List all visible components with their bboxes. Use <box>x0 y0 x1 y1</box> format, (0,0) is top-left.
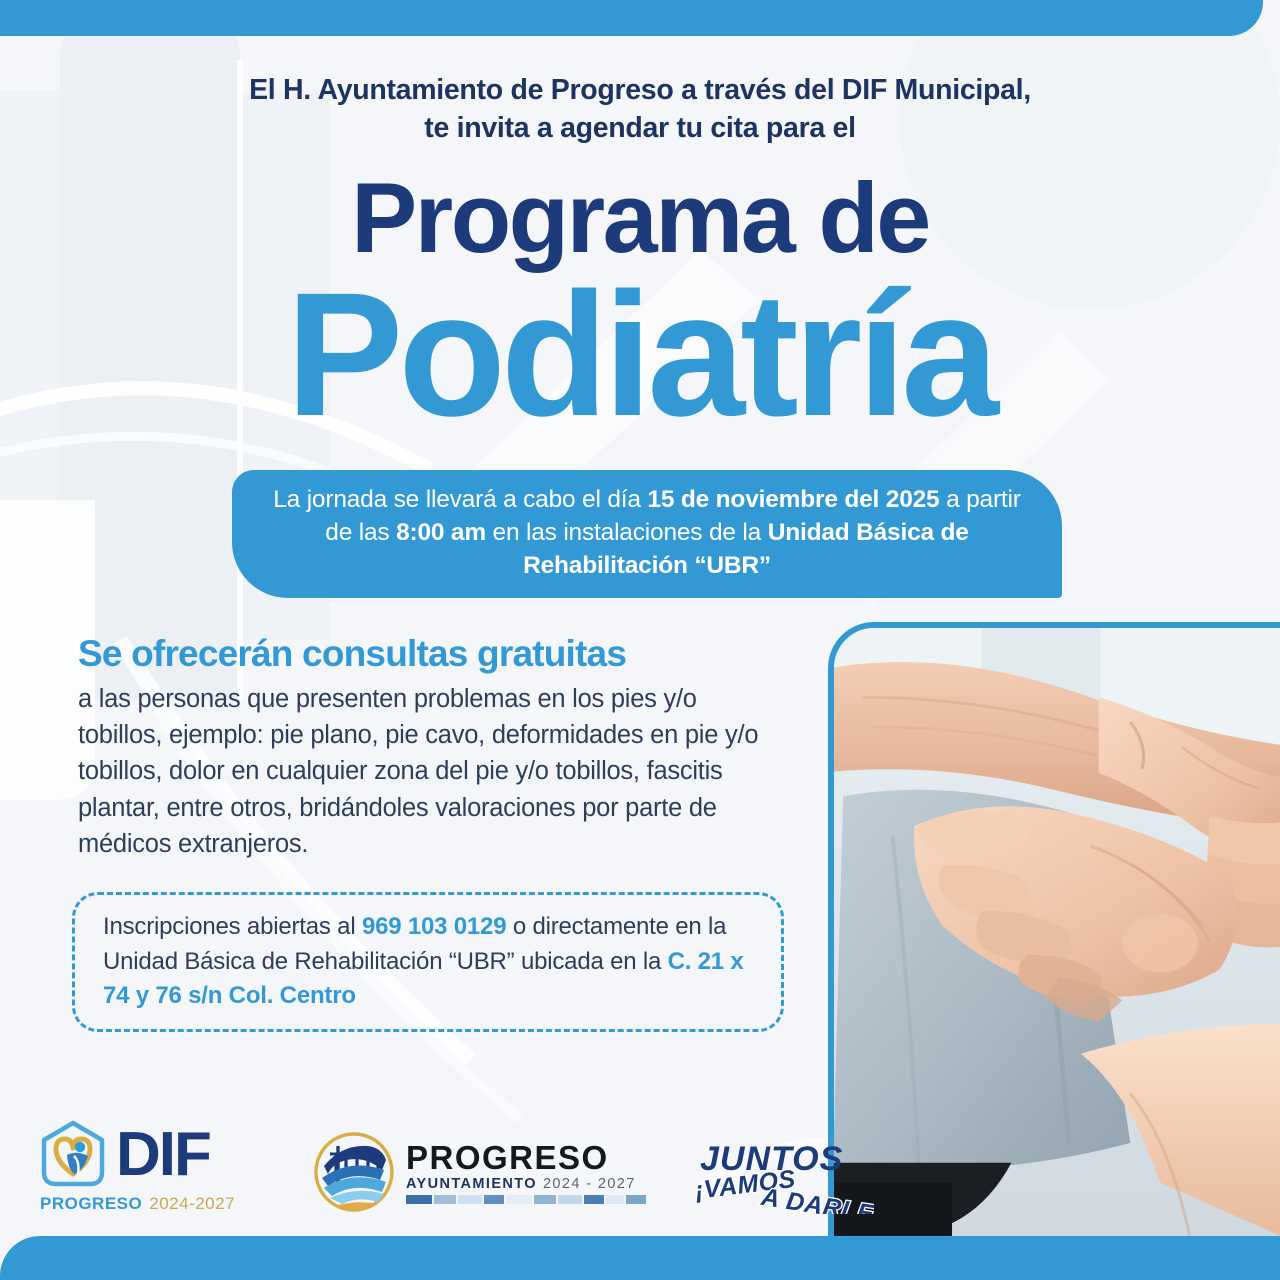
progreso-sub-ayuntamiento: AYUNTAMIENTO <box>406 1176 537 1192</box>
registration-text: Inscripciones abiertas al 969 103 0129 o… <box>75 910 781 1014</box>
dif-logo-row: DIF <box>36 1118 264 1192</box>
dif-sub-progreso: PROGRESO <box>40 1194 142 1214</box>
progreso-wordmark: PROGRESO <box>406 1141 646 1174</box>
therapist-examining-foot-photo <box>834 628 1280 1236</box>
juntos-slogan-icon: JUNTOS ¡VAMOS A DARLE! <box>694 1136 874 1214</box>
free-consults-heading: Se ofrecerán consultas gratuitas <box>78 634 798 674</box>
progreso-stripe-decoration <box>406 1195 646 1204</box>
poster-content: El H. Ayuntamiento de Progreso a través … <box>0 0 1280 1280</box>
page-title-line-1: Programa de <box>0 168 1280 267</box>
progreso-pier-emblem-icon <box>312 1130 396 1214</box>
top-blue-bar <box>0 0 1263 36</box>
progreso-logo: PROGRESO AYUNTAMIENTO 2024 - 2027 <box>312 1130 646 1214</box>
kicker-line-2: te invita a agendar tu cita para el <box>0 110 1280 148</box>
banner-date: 15 de noviembre del 2025 <box>647 486 939 513</box>
bottom-blue-bar <box>0 1236 1280 1280</box>
slogan-line-3: A DARLE! <box>758 1183 874 1214</box>
registration-part1: Inscripciones abiertas al <box>103 913 362 940</box>
progreso-sublabel: AYUNTAMIENTO 2024 - 2027 <box>406 1176 646 1192</box>
juntos-vamos-a-darle-slogan: JUNTOS ¡VAMOS A DARLE! <box>694 1136 874 1214</box>
banner-text-part3: en las instalaciones de la <box>486 519 768 546</box>
description-paragraph: a las personas que presenten problemas e… <box>78 681 778 862</box>
dif-sublabel: PROGRESO 2024-2027 <box>36 1194 264 1214</box>
page-title-line-2: Podiatría <box>0 267 1280 443</box>
kicker-text: El H. Ayuntamiento de Progreso a través … <box>0 72 1280 148</box>
dif-wordmark: DIF <box>116 1126 210 1183</box>
dif-house-heart-icon <box>36 1118 110 1192</box>
kicker-line-1: El H. Ayuntamiento de Progreso a través … <box>0 72 1280 110</box>
banner-text-part1: La jornada se llevará a cabo el día <box>273 486 647 513</box>
event-info-banner: La jornada se llevará a cabo el día 15 d… <box>232 470 1062 598</box>
progreso-sub-years: 2024 - 2027 <box>543 1176 636 1192</box>
progreso-text-block: PROGRESO AYUNTAMIENTO 2024 - 2027 <box>406 1141 646 1204</box>
dif-logo: DIF PROGRESO 2024-2027 <box>36 1118 264 1214</box>
dif-sub-years: 2024-2027 <box>149 1194 235 1214</box>
registration-box: Inscripciones abiertas al 969 103 0129 o… <box>72 892 784 1032</box>
registration-phone[interactable]: 969 103 0129 <box>362 913 506 940</box>
banner-time: 8:00 am <box>396 519 486 546</box>
photo-frame <box>828 622 1280 1236</box>
footer-logos: DIF PROGRESO 2024-2027 <box>36 1118 874 1214</box>
